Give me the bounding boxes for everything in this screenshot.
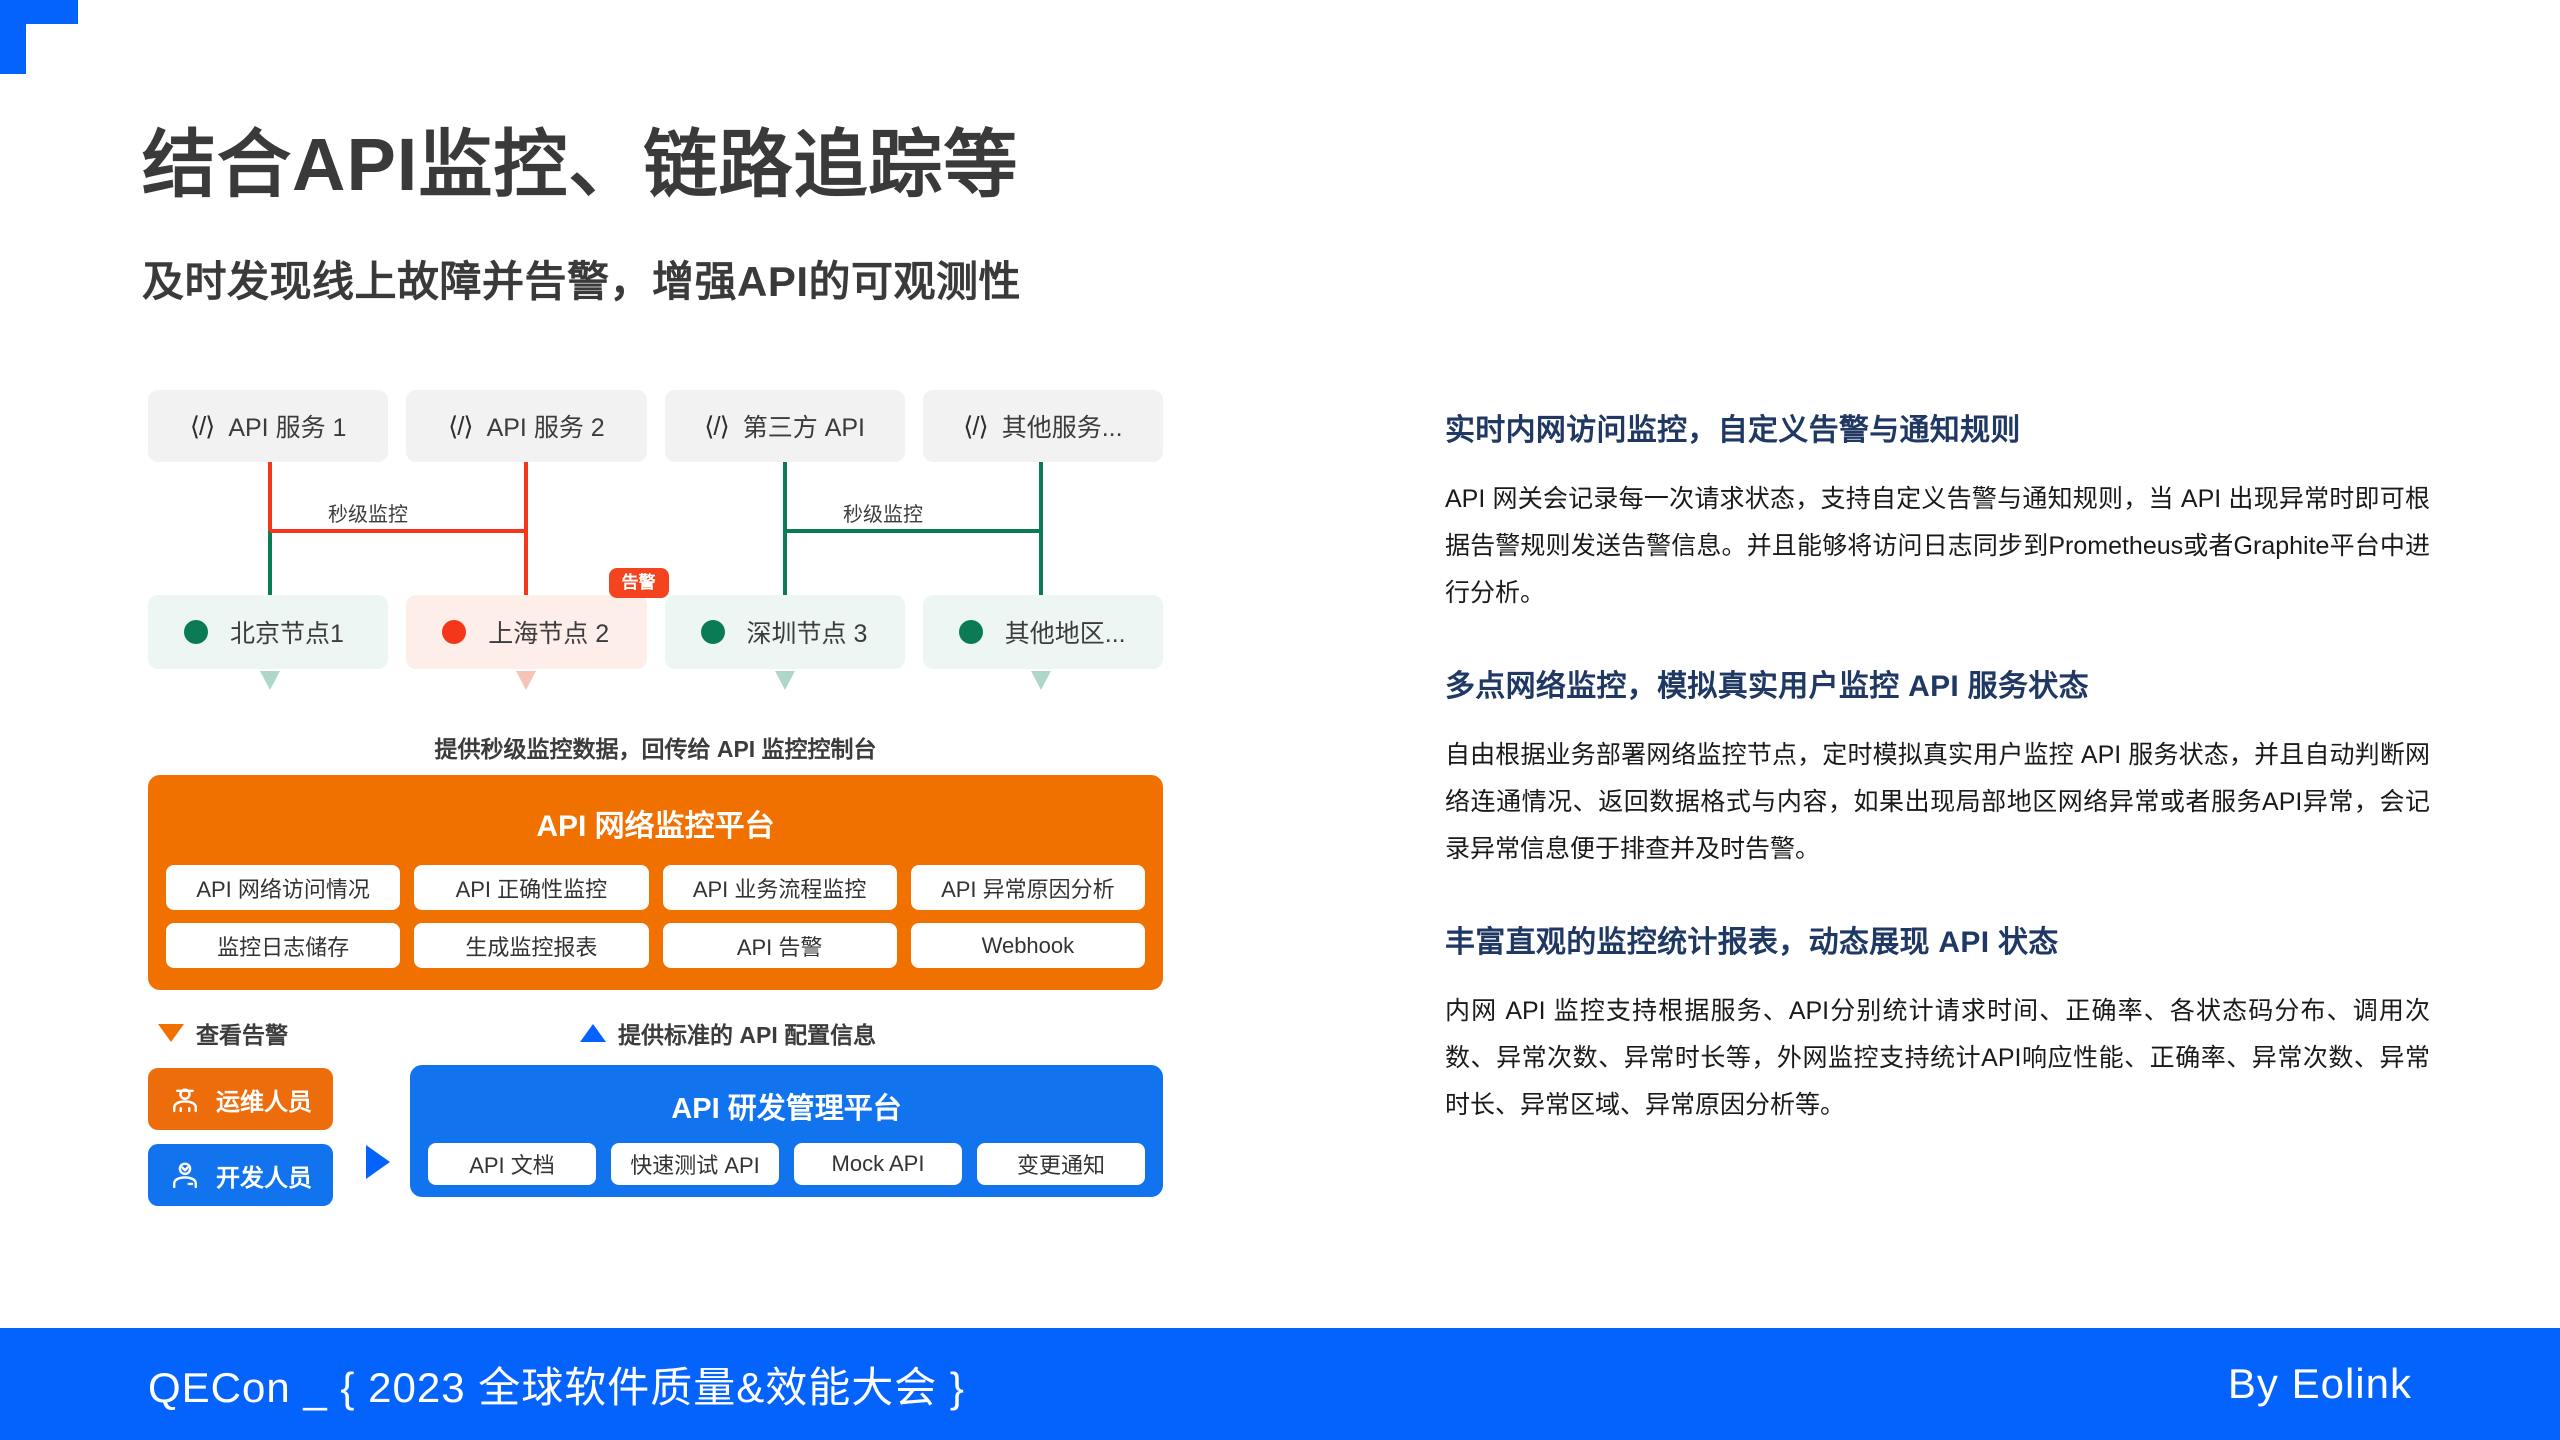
feature-item: 多点网络监控，模拟真实用户监控 API 服务状态 自由根据业务部署网络监控节点，…	[1445, 661, 2430, 873]
status-dot-icon	[442, 620, 466, 644]
corner-bar-vertical	[0, 0, 26, 74]
api-network-monitoring-platform: API 网络监控平台 API 网络访问情况 API 正确性监控 API 业务流程…	[148, 775, 1163, 990]
feature-chip[interactable]: API 业务流程监控	[663, 865, 897, 910]
code-icon: ⟨/⟩	[704, 411, 729, 442]
legend-alert-label: 查看告警	[196, 1016, 288, 1050]
node-box-label: 其他地区...	[1005, 614, 1126, 650]
node-box[interactable]: 其他地区...	[923, 595, 1163, 669]
service-box-label: API 服务 1	[228, 408, 346, 444]
feature-body: API 网关会记录每一次请求状态，支持自定义告警与通知规则，当 API 出现异常…	[1445, 476, 2430, 617]
orange-chip-row-1: API 网络访问情况 API 正确性监控 API 业务流程监控 API 异常原因…	[166, 865, 1145, 910]
service-box-label: 第三方 API	[743, 408, 865, 444]
service-box[interactable]: ⟨/⟩ 其他服务...	[923, 390, 1163, 462]
status-badge-alert: 告警	[609, 568, 669, 598]
service-box-row: ⟨/⟩ API 服务 1 ⟨/⟩ API 服务 2 ⟨/⟩ 第三方 API ⟨/…	[148, 390, 1163, 462]
node-box-label: 深圳节点 3	[747, 614, 868, 650]
orange-panel-title: API 网络监控平台	[166, 801, 1145, 845]
feature-chip[interactable]: Webhook	[911, 923, 1145, 968]
status-dot-icon	[184, 620, 208, 644]
node-box-label: 上海节点 2	[488, 614, 609, 650]
feature-body: 自由根据业务部署网络监控节点，定时模拟真实用户监控 API 服务状态，并且自动判…	[1445, 732, 2430, 873]
ops-person-icon	[168, 1082, 202, 1116]
feature-chip[interactable]: API 正确性监控	[414, 865, 648, 910]
platform-pill[interactable]: 变更通知	[977, 1143, 1145, 1185]
legend-provide-config: 提供标准的 API 配置信息	[580, 1016, 876, 1050]
feed-caption: 提供秒级监控数据，回传给 API 监控控制台	[148, 730, 1163, 764]
service-box[interactable]: ⟨/⟩ API 服务 2	[406, 390, 646, 462]
platform-pill[interactable]: Mock API	[794, 1143, 962, 1185]
legend-view-alerts: 查看告警	[158, 1016, 288, 1050]
footer-brand: By Eolink	[2228, 1360, 2412, 1408]
feature-list: 实时内网访问监控，自定义告警与通知规则 API 网关会记录每一次请求状态，支持自…	[1445, 405, 2430, 1173]
connector-label-left: 秒级监控	[328, 498, 408, 527]
blue-panel-title: API 研发管理平台	[428, 1085, 1145, 1127]
slide-footer: QECon _ { 2023 全球软件质量&效能大会 } By Eolink	[0, 1328, 2560, 1440]
code-icon: ⟨/⟩	[190, 411, 215, 442]
legend-row: 查看告警 提供标准的 API 配置信息	[148, 1016, 1163, 1056]
feature-chip[interactable]: API 网络访问情况	[166, 865, 400, 910]
corner-bracket-decoration	[0, 0, 78, 74]
service-box-label: 其他服务...	[1002, 408, 1123, 444]
feature-chip[interactable]: 监控日志储存	[166, 923, 400, 968]
feature-chip[interactable]: API 告警	[663, 923, 897, 968]
slide-subtitle: 及时发现线上故障并告警，增强API的可观测性	[142, 248, 1021, 309]
service-box-label: API 服务 2	[487, 408, 605, 444]
feature-item: 实时内网访问监控，自定义告警与通知规则 API 网关会记录每一次请求状态，支持自…	[1445, 405, 2430, 617]
platform-pill[interactable]: 快速测试 API	[611, 1143, 779, 1185]
role-list: 运维人员 开发人员	[148, 1068, 353, 1220]
footer-conference-name: QECon _ { 2023 全球软件质量&效能大会 }	[148, 1354, 965, 1415]
service-box[interactable]: ⟨/⟩ API 服务 1	[148, 390, 388, 462]
code-icon: ⟨/⟩	[963, 411, 988, 442]
triangle-up-icon	[580, 1024, 606, 1042]
node-box-label: 北京节点1	[230, 614, 344, 650]
status-dot-icon	[959, 620, 983, 644]
node-box-row: 北京节点1 上海节点 2 告警 深圳节点 3 其他地区...	[148, 595, 1163, 669]
feature-chip[interactable]: API 异常原因分析	[911, 865, 1145, 910]
role-label: 开发人员	[216, 1158, 312, 1193]
triangle-down-icon	[158, 1024, 184, 1042]
connector-label-right: 秒级监控	[843, 498, 923, 527]
slide-title: 结合API监控、链路追踪等	[142, 105, 1018, 212]
role-label: 运维人员	[216, 1082, 312, 1117]
node-box[interactable]: 深圳节点 3	[665, 595, 905, 669]
feature-body: 内网 API 监控支持根据服务、API分别统计请求时间、正确率、各状态码分布、调…	[1445, 988, 2430, 1129]
feature-heading: 实时内网访问监控，自定义告警与通知规则	[1445, 405, 2430, 449]
role-ops[interactable]: 运维人员	[148, 1068, 333, 1130]
play-arrow-icon	[366, 1145, 390, 1179]
feature-item: 丰富直观的监控统计报表，动态展现 API 状态 内网 API 监控支持根据服务、…	[1445, 917, 2430, 1129]
dev-person-icon	[168, 1158, 202, 1192]
service-box[interactable]: ⟨/⟩ 第三方 API	[665, 390, 905, 462]
feature-heading: 丰富直观的监控统计报表，动态展现 API 状态	[1445, 917, 2430, 961]
api-development-platform: API 研发管理平台 API 文档 快速测试 API Mock API 变更通知	[410, 1065, 1163, 1197]
feature-heading: 多点网络监控，模拟真实用户监控 API 服务状态	[1445, 661, 2430, 705]
feature-chip[interactable]: 生成监控报表	[414, 923, 648, 968]
node-box[interactable]: 上海节点 2 告警	[406, 595, 646, 669]
status-dot-icon	[701, 620, 725, 644]
orange-chip-row-2: 监控日志储存 生成监控报表 API 告警 Webhook	[166, 923, 1145, 968]
node-box[interactable]: 北京节点1	[148, 595, 388, 669]
code-icon: ⟨/⟩	[448, 411, 473, 442]
blue-pill-row: API 文档 快速测试 API Mock API 变更通知	[428, 1143, 1145, 1185]
architecture-diagram: ⟨/⟩ API 服务 1 ⟨/⟩ API 服务 2 ⟨/⟩ 第三方 API ⟨/…	[148, 390, 1163, 1240]
role-dev[interactable]: 开发人员	[148, 1144, 333, 1206]
legend-config-label: 提供标准的 API 配置信息	[618, 1016, 876, 1050]
platform-pill[interactable]: API 文档	[428, 1143, 596, 1185]
